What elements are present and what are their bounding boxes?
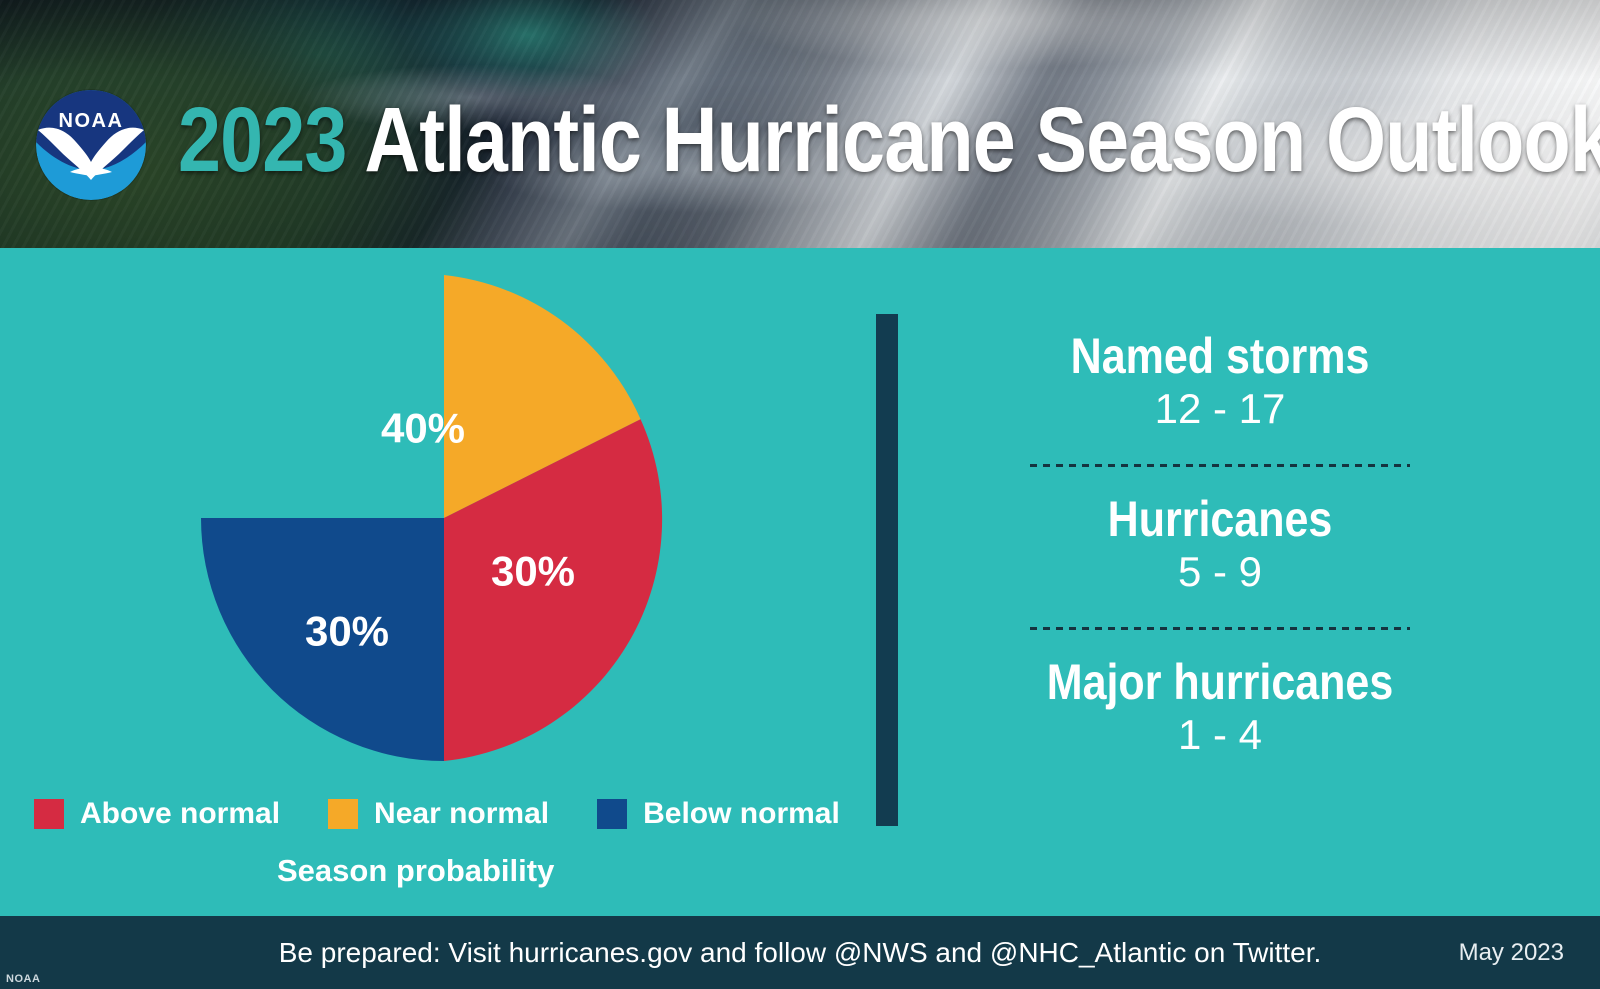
chart-legend: Above normal Near normal Below normal: [34, 797, 840, 831]
legend-item-above-normal: Above normal: [34, 797, 280, 831]
legend-swatch-near-normal: [328, 799, 358, 829]
stat-named-storms: Named storms 12 - 17: [960, 330, 1480, 434]
pie-label-near-normal: 40%: [381, 405, 465, 452]
footer-date: May 2023: [1459, 939, 1564, 967]
legend-label-near-normal: Near normal: [374, 797, 549, 831]
stat-title-major-hurricanes: Major hurricanes: [996, 656, 1443, 709]
stat-major-hurricanes: Major hurricanes 1 - 4: [960, 656, 1480, 760]
footer-message: Be prepared: Visit hurricanes.gov and fo…: [0, 937, 1600, 969]
legend-label-above-normal: Above normal: [80, 797, 280, 831]
vertical-divider: [876, 314, 898, 826]
legend-caption: Season probability: [277, 853, 554, 889]
stat-dotted-divider-2: [1030, 627, 1410, 630]
legend-label-below-normal: Below normal: [643, 797, 840, 831]
forecast-numbers-panel: Named storms 12 - 17 Hurricanes 5 - 9 Ma…: [960, 330, 1480, 761]
legend-item-near-normal: Near normal: [328, 797, 549, 831]
stat-value-hurricanes: 5 - 9: [960, 546, 1480, 597]
legend-swatch-above-normal: [34, 799, 64, 829]
stat-title-hurricanes: Hurricanes: [996, 493, 1443, 546]
stat-value-major-hurricanes: 1 - 4: [960, 709, 1480, 760]
stat-hurricanes: Hurricanes 5 - 9: [960, 493, 1480, 597]
legend-swatch-below-normal: [597, 799, 627, 829]
stat-value-named-storms: 12 - 17: [960, 383, 1480, 434]
hurricane-outlook-infographic: NOAA 2023 Atlantic Hurricane Season Outl…: [0, 0, 1600, 989]
page-title: 2023 Atlantic Hurricane Season Outlook: [178, 84, 1600, 196]
pie-label-above-normal: 30%: [491, 548, 575, 595]
stat-dotted-divider-1: [1030, 464, 1410, 467]
footer-watermark: NOAA: [6, 973, 40, 985]
title-rest: Atlantic Hurricane Season Outlook: [347, 89, 1600, 191]
noaa-logo: NOAA: [36, 90, 146, 200]
footer-bar: Be prepared: Visit hurricanes.gov and fo…: [0, 916, 1600, 989]
svg-text:NOAA: NOAA: [59, 110, 124, 132]
legend-item-below-normal: Below normal: [597, 797, 840, 831]
header-banner: NOAA 2023 Atlantic Hurricane Season Outl…: [0, 0, 1600, 248]
title-year: 2023: [178, 89, 347, 191]
season-probability-pie-chart: 40% 30% 30%: [201, 275, 687, 761]
pie-label-below-normal: 30%: [305, 608, 389, 655]
stat-title-named-storms: Named storms: [996, 330, 1443, 383]
